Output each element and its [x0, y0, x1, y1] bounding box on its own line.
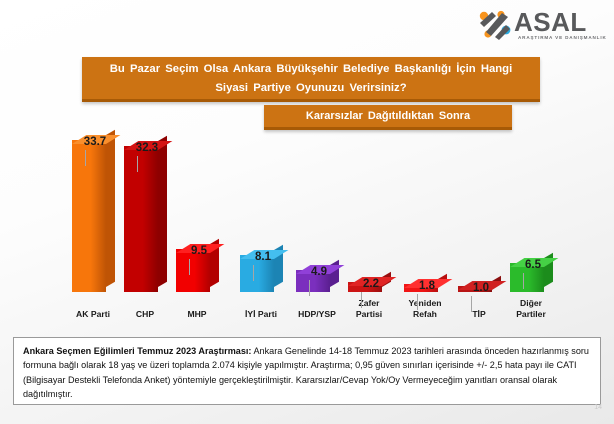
- value-leader-line: [523, 273, 524, 289]
- category-label-6: YenidenRefah: [392, 298, 458, 320]
- value-leader-line: [189, 259, 190, 275]
- bar-group: [176, 120, 210, 292]
- asal-diagonal-bars-icon: [478, 10, 512, 40]
- category-label-5: ZaferPartisi: [338, 298, 400, 320]
- value-label: 6.5: [500, 259, 566, 271]
- bar-group: [404, 120, 438, 292]
- bar-face: [72, 140, 106, 292]
- value-label: 2.2: [340, 278, 402, 290]
- bar-chp[interactable]: [124, 146, 158, 292]
- value-leader-line: [361, 292, 362, 308]
- value-leader-line: [253, 265, 254, 281]
- value-leader-line: [309, 280, 310, 296]
- value-label: 32.3: [116, 142, 178, 154]
- category-label-3: İYİ Parti: [232, 309, 290, 320]
- methodology-note: Ankara Seçmen Eğilimleri Temmuz 2023 Ara…: [13, 337, 601, 405]
- page-number: 14: [594, 404, 602, 411]
- bar-face: [124, 146, 158, 292]
- category-label-2: MHP: [171, 309, 223, 320]
- value-label: 9.5: [173, 245, 225, 257]
- logo-tagline: ARAŞTIRMA VE DANIŞMANLIK: [518, 35, 607, 40]
- value-leader-line: [417, 294, 418, 310]
- value-label: 1.0: [455, 282, 507, 294]
- bar-side-face: [106, 130, 115, 287]
- value-label: 4.9: [288, 266, 350, 278]
- value-leader-line: [137, 156, 138, 172]
- bar-chart: AK PartiCHPMHPİYİ PartiHDP/YSPZaferParti…: [0, 120, 614, 320]
- methodology-title: Ankara Seçmen Eğilimleri Temmuz 2023 Ara…: [23, 346, 251, 356]
- category-label-1: CHP: [114, 309, 176, 320]
- value-leader-line: [471, 296, 472, 312]
- asal-logo: ASAL ARAŞTIRMA VE DANIŞMANLIK: [478, 8, 606, 50]
- bar-ak-parti[interactable]: [72, 140, 106, 292]
- bar-group: [458, 120, 492, 292]
- category-label-8: DiğerPartiler: [498, 298, 564, 320]
- bar-group: [240, 120, 274, 292]
- question-banner: Bu Pazar Seçim Olsa Ankara Büyükşehir Be…: [82, 57, 540, 102]
- value-label: 1.8: [394, 280, 460, 292]
- slide-canvas: ASAL ARAŞTIRMA VE DANIŞMANLIK Bu Pazar S…: [0, 0, 614, 424]
- value-label: 8.1: [234, 251, 292, 263]
- value-leader-line: [85, 150, 86, 166]
- bar-group: [348, 120, 382, 292]
- bar-side-face: [158, 136, 167, 287]
- logo-wordmark: ASAL: [514, 8, 587, 36]
